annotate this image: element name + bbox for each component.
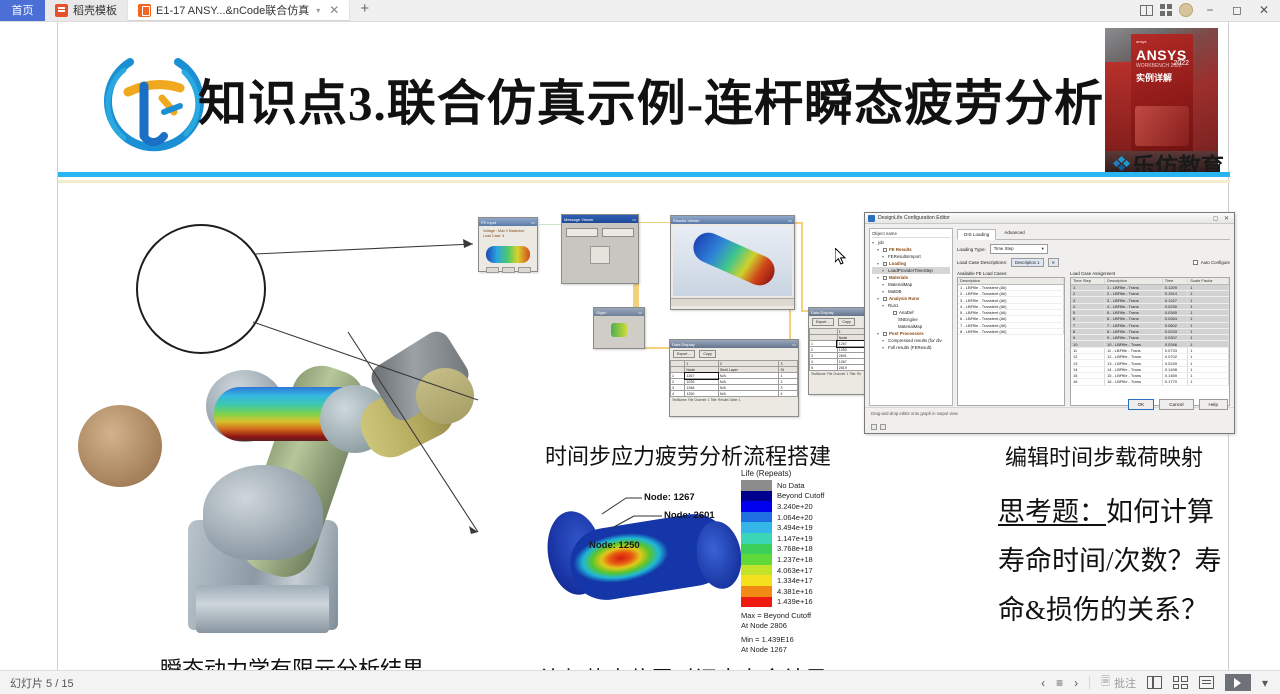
life-legend: Life (Repeats) No DataBeyond Cutoff3.240… [741,469,836,655]
cell: 16 [1071,379,1104,385]
slide-count: 幻灯片 5 / 15 [10,675,74,691]
cell: 16 - LBFfile - Trans [1104,379,1162,385]
window-titlebar: Results Viewer▭ [671,216,794,224]
new-tab-button[interactable]: + [350,0,379,21]
tree-node[interactable]: ▾MaterialMap [872,281,950,288]
available-rows[interactable]: 1 - LBFfile - Transient (All)2 - LBFfile… [958,284,1064,334]
object-tree[interactable]: Object name ▾job▾FE Results▾FEResultsImp… [869,228,953,406]
tree-node[interactable]: MaterialMap [872,323,950,330]
arm-joint-tan [78,405,162,487]
expander-icon[interactable]: ▾ [877,246,881,253]
divider [1089,676,1090,689]
tree-node[interactable]: ▾FEResultsImport [872,253,950,260]
export-button[interactable]: Export ... [812,318,834,326]
dialog-right-pane: DIS Loading Advanced Loading Type: Time … [957,228,1230,406]
flow-window-data-display-1[interactable]: Data Display▭ Export ... Copy 123 NodeSh… [669,339,799,417]
cancel-button[interactable]: Cancel [1159,399,1193,410]
legend-value: 3.240e+20 [777,502,813,511]
dialog-footer: Drag-and-drop editor onto graph in outpu… [865,407,1234,433]
assignment-grid[interactable]: Time Step Description Time Scale Factor … [1070,277,1230,406]
cell: N/A [718,391,779,397]
tree-node-label: Analysis Runs [889,295,919,302]
chevron-down-icon: ▾ [1042,246,1044,252]
dialog-tabs[interactable]: DIS Loading Advanced [957,228,1230,240]
book-brand: ansys [1136,39,1146,44]
legend-swatch [741,512,772,523]
legend-value: 4.063e+17 [777,566,813,575]
glyph-thumb [611,323,627,337]
browser-tab-bar: 首页 稻壳模板 E1-17 ANSY...&nCode联合仿真 ▾ ✕ + − … [0,0,1280,22]
tree-node-label: LoadProviderTimeStep [888,267,933,274]
window-titlebar: Message Viewer▭ [562,215,638,223]
legend-swatch [741,575,772,586]
tree-node-label: MaterialMap [898,323,922,330]
dialog-hint: Drag-and-drop editor onto graph in outpu… [871,411,958,416]
robot-arm-fea-image [68,190,468,650]
tab-presentation-label: E1-17 ANSY...&nCode联合仿真 [156,2,309,18]
tab-docer-label: 稻壳模板 [73,2,117,18]
minimize-icon[interactable]: − [1200,3,1220,17]
legend-entry: 4.381e+16 [741,586,836,597]
slide-header: 知识点3.联合仿真示例-连杆瞬态疲劳分析 ansys ANSYS WORKBEN… [58,22,1230,172]
tree-node-label: Run1 [888,302,899,309]
zoom-highlight-circle [136,224,266,354]
avatar[interactable] [1179,3,1193,17]
node-label-1250: Node: 1250 [589,540,640,551]
lefang-circle-logo [100,50,208,158]
legend-min-line1: Min = 1.439E16 [741,635,836,645]
expander-icon[interactable]: ▾ [882,344,886,351]
sorter-view-icon[interactable] [1173,676,1188,689]
results-viewer-footer [671,298,794,306]
ncode-workflow-diagram: FE Input▭ Voltage : Max 0 Maximum Load C… [473,212,893,427]
loading-type-label: Loading Type: [957,247,986,252]
legend-swatch [741,491,772,502]
book-cn-title: 实例详解 [1136,71,1172,84]
legend-swatch [741,480,772,491]
tree-checkbox[interactable] [883,297,887,301]
tree-checkbox[interactable] [883,276,887,280]
tab-home[interactable]: 首页 [0,0,45,21]
legend-value: 3.494e+19 [777,523,813,532]
legend-min-line2: At Node 1267 [741,645,836,655]
tree-node[interactable]: SNEngine [872,316,950,323]
tree-node-label: Materials [889,274,908,281]
tree-node-label: job [878,239,884,246]
legend-entry: 1.334e+17 [741,575,836,586]
tree-node[interactable]: AnaDef [872,309,950,316]
question-line-1-rest: 如何计算 [1106,497,1214,527]
cell: 5 [810,365,838,371]
book-art [1135,106,1189,146]
caption-load-mapping: 编辑时间步载荷映射 [1005,440,1203,472]
flow-window-fe-input[interactable]: FE Input▭ Voltage : Max 0 Maximum Load C… [478,217,538,272]
wire-6 [801,222,803,312]
legend-swatch [741,597,772,608]
expander-icon[interactable]: ▾ [882,267,886,274]
auto-configure-label: Auto Configure [1201,260,1230,265]
dialog-buttons[interactable]: OK Cancel Help [1128,399,1228,410]
reading-view-icon[interactable] [1199,676,1214,689]
cell: 4 [671,391,685,397]
legend-entry: 3.768e+18 [741,544,836,555]
legend-swatch [741,565,772,576]
dialog-status-icons[interactable] [871,424,886,430]
load-case-chip[interactable]: Description 1 [1011,258,1043,267]
divider-cream [58,180,1230,183]
left-gutter [0,22,57,670]
normal-view-icon[interactable] [1147,676,1162,689]
question-block: 思考题：如何计算 寿命时间/次数？寿 命&损伤的关系？ [998,488,1280,635]
tree-node-label: FE Results [889,246,912,253]
expander-icon[interactable]: ▾ [877,330,881,337]
legend-entry: 3.240e+20 [741,501,836,512]
flow-window-fe-input-buttons[interactable] [481,267,535,273]
tree-node[interactable]: ▾Materials [872,274,950,281]
expander-icon[interactable]: ▾ [877,260,881,267]
legend-swatch [741,554,772,565]
mouse-cursor [835,248,847,266]
legend-swatch [741,501,772,512]
legend-entry: Beyond Cutoff [741,491,836,502]
checkbox-box [1193,260,1198,265]
load-case-label: Load Case Descriptions: [957,260,1007,265]
loading-type-value: Time Step [994,246,1014,252]
cell: 4 [779,391,798,397]
available-label: Available FE Load Cases: [957,271,1065,276]
tree-checkbox[interactable] [883,248,887,252]
window-titlebar: Glyph▭ [594,308,644,316]
ppt-icon [138,4,151,17]
legend-min: Min = 1.439E16 At Node 1267 [741,635,836,655]
flow-window-results-viewer-title: Results Viewer [673,218,700,223]
flow-window-fe-input-text: Voltage : Max 0 Maximum Load Case: 4 [481,228,535,238]
page-title: 知识点3.联合仿真示例-连杆瞬态疲劳分析 [198,64,1188,144]
annotation-icon: 🗏 [1101,673,1110,692]
window-titlebar: Data Display▭ [670,340,798,348]
tab-presentation[interactable]: E1-17 ANSY...&nCode联合仿真 ▾ ✕ [128,0,350,21]
tree-node[interactable]: ▾Analysis Runs [872,295,950,302]
slideshow-options-icon[interactable]: ▾ [1262,676,1268,690]
tree-node-label: MaterialMap [888,281,912,288]
question-line-1: 思考题：如何计算 [998,488,1280,537]
help-button[interactable]: Help [1199,399,1228,410]
tree-node[interactable]: ▾Full results (FEResult) [872,344,950,351]
dialog-body: Object name ▾job▾FE Results▾FEResultsImp… [865,224,1234,410]
legend-swatch [741,544,772,555]
load-case-row: Load Case Descriptions: Description 1 ✕ … [957,258,1230,267]
flow-window-results-viewer[interactable]: Results Viewer▭ [670,215,795,310]
legend-max-line1: Max = Beyond Cutoff [741,611,836,621]
legend-max-line2: At Node 2806 [741,621,836,631]
arm-shoulder-joint [203,465,323,560]
wire-2 [639,222,670,223]
legend-entry: 1.237e+18 [741,554,836,565]
available-load-cases-pane: Available FE Load Cases: Description 1 -… [957,271,1065,406]
data-display-1-table: 123 NodeShell LayerSt 11267N/A1 21026N/A… [670,360,798,397]
maximize-icon[interactable]: ◻ [1227,3,1247,17]
legend-entry: 1.147e+19 [741,533,836,544]
flow-window-data-display-1-title: Data Display [672,342,695,347]
legend-rows: No DataBeyond Cutoff3.240e+201.064e+203.… [741,480,836,607]
divider-blue [58,172,1230,177]
flow-window-glyph-title: Glyph [596,310,606,315]
copy-button[interactable]: Copy [699,350,715,358]
wire-1 [539,224,561,225]
slide-list-button[interactable]: ≡ [1056,676,1063,690]
tree-node-label: FEResultsImport [888,253,921,260]
cell: 0.1770 [1162,379,1188,385]
close-icon[interactable]: ✕ [329,3,339,17]
tree-node[interactable]: ▾Run1 [872,302,950,309]
flow-window-glyph[interactable]: Glyph▭ [593,307,645,349]
legend-entry: 1.064e+20 [741,512,836,523]
tab-dis-loading[interactable]: DIS Loading [957,229,996,240]
object-tree-header: Object name [872,231,950,238]
tab-home-label: 首页 [12,2,34,18]
data-display-1-toolbar[interactable]: Export ... Copy [670,348,798,360]
tab-advanced[interactable]: Advanced [998,228,1030,239]
annotation-button[interactable]: 🗏 批注 [1101,673,1136,692]
expander-icon[interactable]: ▾ [877,295,881,302]
legend-value: 3.768e+18 [777,544,813,553]
export-button[interactable]: Export ... [673,350,695,358]
expander-icon[interactable]: ▾ [882,281,886,288]
tree-node-label: Full results (FEResult) [888,344,931,351]
tree-checkbox[interactable] [883,332,887,336]
assignment-rows[interactable]: 11 - LBFfile - Trans0.1209122 - LBFfile … [1071,284,1229,385]
node-label-2601: Node: 2601 [664,510,715,521]
tab-docer[interactable]: 稻壳模板 [45,0,128,21]
message-viewer-buttons[interactable] [562,223,638,237]
status-bar: 幻灯片 5 / 15 ‹ ≡ › 🗏 批注 ▾ [0,670,1280,694]
tree-node-label: AnaDef [899,309,914,316]
available-table: Description 1 - LBFfile - Transient (All… [958,278,1064,335]
table-row: 41250N/A4 [671,391,798,397]
ok-button[interactable]: OK [1128,399,1155,410]
legend-value: 1.237e+18 [777,555,813,564]
legend-swatch [741,522,772,533]
tree-node[interactable]: ▾MatDB [872,288,950,295]
legend-max: Max = Beyond Cutoff At Node 2806 [741,611,836,631]
legend-entry: 3.494e+19 [741,522,836,533]
tree-node-label: Compressed results (for div [888,337,942,344]
legend-title: Life (Repeats) [741,469,836,478]
loading-type-select[interactable]: Time Step▾ [990,244,1048,254]
book-year: 2022 [1173,60,1189,67]
connecting-rod-life-contour: Node: 1267 Node: 2601 Node: 1250 [538,462,758,652]
fea-thumbnail [486,246,530,263]
assignment-label: Load Case Assignment [1070,271,1230,276]
cell: 1250 [685,391,718,397]
legend-value: 1.147e+19 [777,534,813,543]
legend-value: 1.439e+16 [777,597,813,606]
cell: 1 [1188,379,1229,385]
legend-entry: 4.063e+17 [741,565,836,576]
tree-node-label: MatDB [888,288,901,295]
legend-entry: No Data [741,480,836,491]
data-display-1-footer: TestName: File Channel: 1 Title: Results… [670,397,798,403]
start-slideshow-button[interactable] [1225,674,1251,691]
play-icon [1234,678,1241,688]
designlife-configuration-editor-dialog[interactable]: DesignLife Configuration Editor ◻ ✕ Obje… [864,212,1235,434]
legend-value: 1.334e+17 [777,576,813,585]
legend-value: 1.064e+20 [777,513,813,522]
flow-window-data-display-2-title: Data Display [811,310,834,315]
expander-icon[interactable]: ▾ [882,288,886,295]
arm-base-ring [196,585,329,633]
results-3d-view [673,226,792,296]
loading-type-row: Loading Type: Time Step▾ [957,244,1230,254]
window-close-icon[interactable]: ✕ [1254,3,1274,17]
grid-view-icon[interactable] [1160,4,1172,16]
slide-canvas[interactable]: 知识点3.联合仿真示例-连杆瞬态疲劳分析 ansys ANSYS WORKBEN… [57,22,1229,670]
maximize-icon[interactable]: ◻ [1213,215,1218,222]
legend-value: 4.381e+16 [777,587,813,596]
expander-icon[interactable]: ▾ [882,253,886,260]
tree-node[interactable]: ▾FE Results [872,246,950,253]
flow-window-message-viewer[interactable]: Message Viewer▭ [561,214,639,284]
legend-value: Beyond Cutoff [777,491,824,500]
legend-entry: 1.439e+16 [741,597,836,608]
docer-icon [55,4,68,17]
expander-icon[interactable]: ▾ [882,302,886,309]
close-icon[interactable]: ✕ [1224,215,1229,222]
expander-icon[interactable]: ▾ [872,239,876,246]
expander-icon[interactable]: ▾ [882,337,886,344]
object-tree-rows[interactable]: ▾job▾FE Results▾FEResultsImport▾Loading▾… [872,239,950,351]
split-view-icon[interactable] [1140,5,1153,16]
arm-end-flange [416,368,474,424]
assignment-table: Time Step Description Time Scale Factor … [1071,278,1229,386]
available-grid[interactable]: Description 1 - LBFfile - Transient (All… [957,277,1065,406]
next-slide-button[interactable]: › [1074,676,1078,690]
dialog-title: DesignLife Configuration Editor [878,215,950,221]
annotation-label: 批注 [1114,675,1136,691]
legend-swatch [741,533,772,544]
node-label-1267: Node: 1267 [644,492,695,503]
tree-node[interactable]: ▾Post Processors [872,330,950,337]
tree-node[interactable]: ▾LoadProviderTimeStep [872,267,950,274]
tree-checkbox[interactable] [893,311,897,315]
message-viewer-canvas [590,246,610,264]
tree-node[interactable]: ▾job [872,239,950,246]
rod-contour-thumb [689,228,780,290]
dialog-titlebar[interactable]: DesignLife Configuration Editor ◻ ✕ [865,213,1234,224]
tree-checkbox[interactable] [883,262,887,266]
tree-node[interactable]: ▾Compressed results (for div [872,337,950,344]
tree-node-label: Post Processors [889,330,924,337]
flow-window-fe-input-title: FE Input [481,220,496,225]
table-row[interactable]: 1616 - LBFfile - Trans0.17701 [1071,379,1229,385]
window-body: Voltage : Max 0 Maximum Load Case: 4 [479,226,537,275]
expander-icon[interactable]: ▾ [877,274,881,281]
dialog-window-controls[interactable]: ◻ ✕ [1213,215,1231,222]
load-case-assignment-pane: Load Case Assignment Time Step Descripti… [1070,271,1230,406]
chevron-down-icon[interactable]: ▾ [316,6,320,15]
prev-slide-button[interactable]: ‹ [1041,676,1045,690]
question-line-3: 命&损伤的关系？ [998,586,1280,635]
book-cover: ansys ANSYS WORKBENCH 2022 2022 实例详解 [1131,34,1193,152]
tree-node[interactable]: ▾Loading [872,260,950,267]
legend-swatch [741,586,772,597]
cell: 8 - LBFfile - Transient (All) [958,328,1064,334]
auto-configure-checkbox[interactable]: Auto Configure [1193,260,1230,265]
node-leaders [538,462,758,652]
diamond-logo-icon [1114,157,1128,171]
dialog-panes: Available FE Load Cases: Description 1 -… [957,271,1230,406]
question-line-2: 寿命时间/次数？寿 [998,537,1280,586]
tabbar-right-group: − ◻ ✕ [1140,0,1280,21]
copy-button[interactable]: Copy [838,318,854,326]
window-titlebar: FE Input▭ [479,218,537,226]
table-row[interactable]: 8 - LBFfile - Transient (All) [958,328,1064,334]
tree-node-label: Loading [889,260,906,267]
question-label: 思考题： [998,497,1106,527]
load-case-remove-icon[interactable]: ✕ [1048,258,1060,267]
tree-node-label: SNEngine [898,316,918,323]
legend-value: No Data [777,481,805,490]
flow-window-message-viewer-title: Message Viewer [564,217,594,222]
status-bar-right: ‹ ≡ › 🗏 批注 ▾ [1041,673,1280,692]
app-icon [868,215,875,222]
